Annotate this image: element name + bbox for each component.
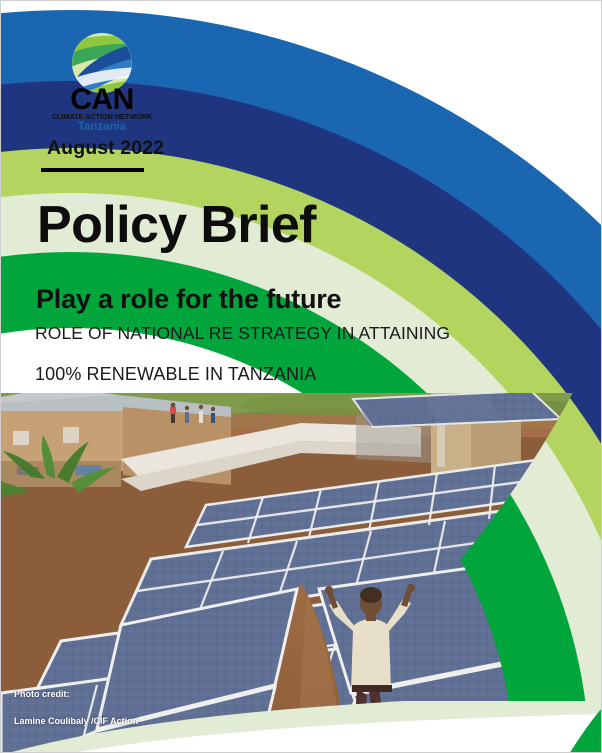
tagline-line-1: ROLE OF NATIONAL RE STRATEGY IN ATTAININ… bbox=[35, 323, 450, 344]
logo-country: Tanzania bbox=[78, 121, 127, 131]
cover-page: CAN CLIMATE ACTION NETWORK Tanzania Augu… bbox=[0, 0, 602, 753]
tagline-line-2: 100% RENEWABLE IN TANZANIA bbox=[35, 364, 316, 385]
page-subtitle: Play a role for the future bbox=[36, 284, 341, 315]
logo-full-name: CLIMATE ACTION NETWORK bbox=[52, 112, 153, 121]
globe-swoosh-icon: CAN CLIMATE ACTION NETWORK Tanzania bbox=[48, 31, 156, 131]
photo-credit-name: Lamine Coulibaly /CIF Action bbox=[14, 717, 138, 726]
photo-credit-label: Photo credit: bbox=[14, 690, 138, 699]
date-underline-rule bbox=[41, 168, 144, 172]
can-tanzania-logo: CAN CLIMATE ACTION NETWORK Tanzania bbox=[48, 31, 156, 131]
publication-date: August 2022 bbox=[47, 137, 164, 160]
page-title: Policy Brief bbox=[37, 198, 316, 253]
photo-credit: Photo credit: Lamine Coulibaly /CIF Acti… bbox=[14, 690, 138, 726]
